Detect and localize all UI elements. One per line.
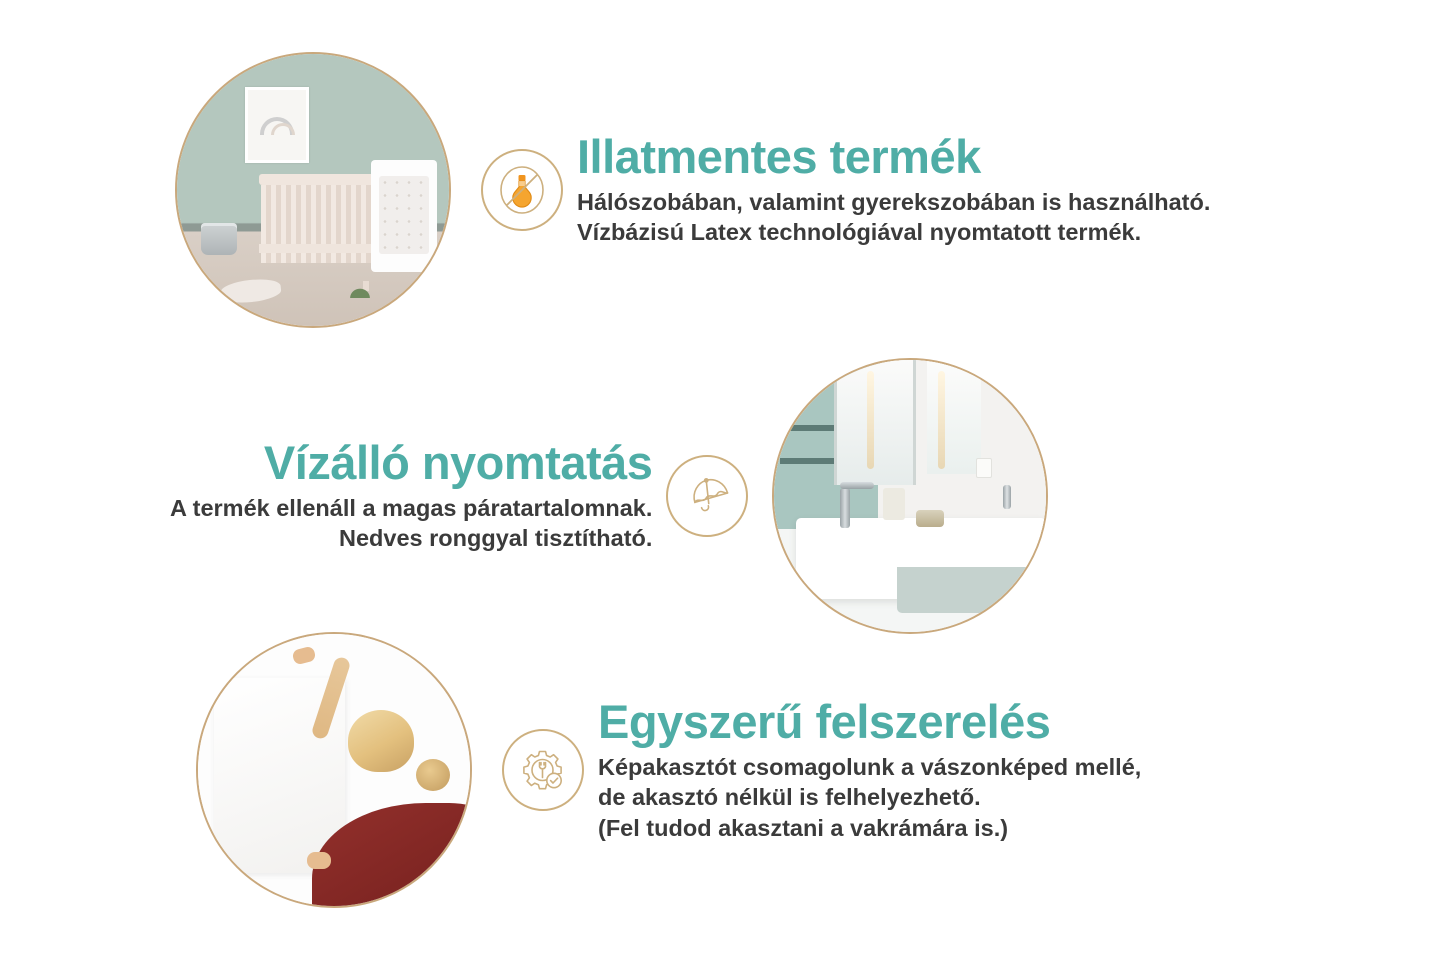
feature-text-block: Illatmentes termék Hálószobában, valamin…: [577, 132, 1210, 248]
baby-crib: [259, 174, 437, 282]
umbrella-icon: [666, 455, 748, 537]
vertical-light: [867, 371, 874, 469]
no-fragrance-bottle-icon: [481, 149, 563, 231]
feature-infographic: Illatmentes termék Hálószobában, valamin…: [0, 0, 1445, 963]
nursery-scene: [177, 54, 449, 326]
crib-tufted-panel: [379, 176, 429, 254]
plant: [343, 282, 377, 298]
feature-body-line: Hálószobában, valamint gyerekszobában is…: [577, 187, 1210, 218]
hanging-canvas-scene: [198, 634, 470, 906]
soap-dispenser: [883, 488, 905, 520]
feature-body-line: Vízbázisú Latex technológiával nyomtatot…: [577, 217, 1210, 248]
feature-body-line: (Fel tudod akasztani a vakrámára is.): [598, 813, 1141, 844]
feature-text-block: Egyszerű felszerelés Képakasztót csomago…: [598, 697, 1141, 843]
bathroom-mirror: [834, 360, 916, 485]
feature-body: A termék ellenáll a magas páratartalomna…: [170, 493, 652, 554]
feature-vizallo-nyomtatas: Vízálló nyomtatás A termék ellenáll a ma…: [170, 358, 1048, 634]
feature-body-line: de akasztó nélkül is felhelyezhető.: [598, 782, 1141, 813]
wall-switch: [976, 458, 992, 478]
floor-rug: [220, 277, 282, 305]
feature-egyszeru-felszereles: Egyszerű felszerelés Képakasztót csomago…: [196, 632, 1141, 908]
feature-body: Hálószobában, valamint gyerekszobában is…: [577, 187, 1210, 248]
vanity-front: [897, 567, 1049, 613]
feature-body-line: Nedves ronggyal tisztítható.: [170, 523, 652, 554]
woman-head: [348, 710, 414, 772]
crib-headboard: [371, 160, 437, 272]
feature-title: Vízálló nyomtatás: [264, 438, 653, 489]
nursery-room-photo: [175, 52, 451, 328]
feature-title: Illatmentes termék: [577, 132, 1210, 183]
feature-illatmentes-termek: Illatmentes termék Hálószobában, valamin…: [175, 52, 1210, 328]
bathroom-mirror-secondary: [927, 360, 981, 474]
crib-lower-rail: [259, 244, 375, 253]
vertical-light: [938, 371, 945, 469]
faucet: [840, 488, 850, 528]
faucet-secondary: [1003, 485, 1011, 509]
hanging-canvas-photo: [196, 632, 472, 908]
crib-top-rail: [259, 174, 375, 185]
hair-bun: [416, 759, 450, 791]
feature-text-block: Vízálló nyomtatás A termék ellenáll a ma…: [170, 438, 652, 554]
rainbow-art-frame: [245, 87, 309, 163]
basket: [201, 223, 237, 255]
jar: [916, 510, 944, 527]
rainbow-icon: [260, 117, 294, 135]
gear-wrench-check-icon: [502, 729, 584, 811]
bathroom-photo: [772, 358, 1048, 634]
feature-body: Képakasztót csomagolunk a vászonképed me…: [598, 752, 1141, 844]
feature-body-line: Képakasztót csomagolunk a vászonképed me…: [598, 752, 1141, 783]
feature-title: Egyszerű felszerelés: [598, 697, 1141, 748]
bathroom-scene: [774, 360, 1046, 632]
hand-bottom: [307, 852, 331, 869]
feature-body-line: A termék ellenáll a magas páratartalomna…: [170, 493, 652, 524]
hand-top: [292, 645, 317, 665]
